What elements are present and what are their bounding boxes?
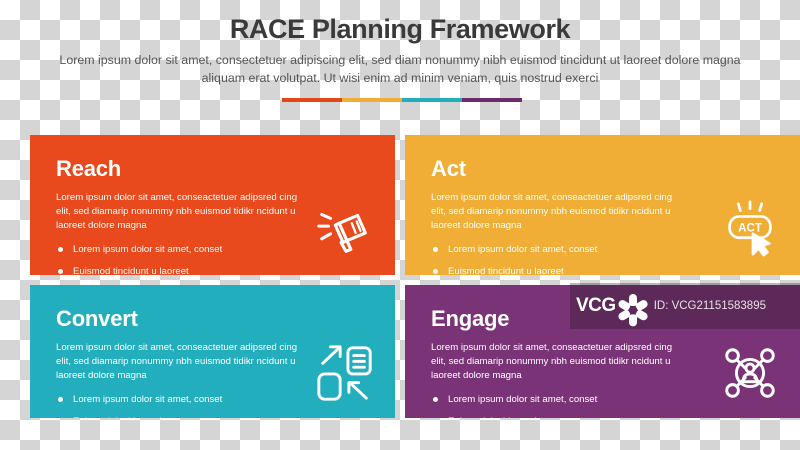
divider-segment-reach xyxy=(282,98,342,102)
divider-segment-engage xyxy=(462,98,522,102)
card-reach-title: Reach xyxy=(56,157,369,180)
megaphone-icon xyxy=(313,199,377,261)
card-engage-title: Engage xyxy=(431,307,774,330)
header: RACE Planning Framework Lorem ipsum dolo… xyxy=(0,14,800,88)
act-button-cursor-icon: ACT xyxy=(718,199,782,261)
page-title: RACE Planning Framework xyxy=(0,14,800,45)
card-reach[interactable]: Reach Lorem ipsum dolor sit amet, consea… xyxy=(30,135,395,275)
list-item: Euismod tincidunt u laoreet xyxy=(56,265,369,275)
divider-segment-act xyxy=(342,98,402,102)
card-reach-body: Lorem ipsum dolor sit amet, conseactetue… xyxy=(56,191,306,234)
list-item: Euismod tincidunt u laoreet xyxy=(56,415,369,418)
card-act-title: Act xyxy=(431,157,774,180)
card-engage[interactable]: Engage Lorem ipsum dolor sit amet, conse… xyxy=(405,285,800,418)
infographic-canvas: RACE Planning Framework Lorem ipsum dolo… xyxy=(0,0,800,450)
divider-segment-convert xyxy=(402,98,462,102)
card-convert-body: Lorem ipsum dolor sit amet, conseactetue… xyxy=(56,341,306,384)
user-network-icon xyxy=(718,342,782,404)
page-subtitle: Lorem ipsum dolor sit amet, consectetuer… xyxy=(55,52,745,88)
color-divider xyxy=(282,98,522,102)
card-convert[interactable]: Convert Lorem ipsum dolor sit amet, cons… xyxy=(30,285,395,418)
card-act[interactable]: Act Lorem ipsum dolor sit amet, conseact… xyxy=(405,135,800,275)
exchange-documents-icon xyxy=(313,342,377,404)
list-item: Euismod tincidunt u laoreet xyxy=(431,265,774,275)
list-item: Euismod tincidunt u laoreet xyxy=(431,415,774,418)
card-convert-title: Convert xyxy=(56,307,369,330)
card-engage-body: Lorem ipsum dolor sit amet, conseactetue… xyxy=(431,341,681,384)
card-act-body: Lorem ipsum dolor sit amet, conseactetue… xyxy=(431,191,681,234)
act-icon-label: ACT xyxy=(738,221,762,234)
